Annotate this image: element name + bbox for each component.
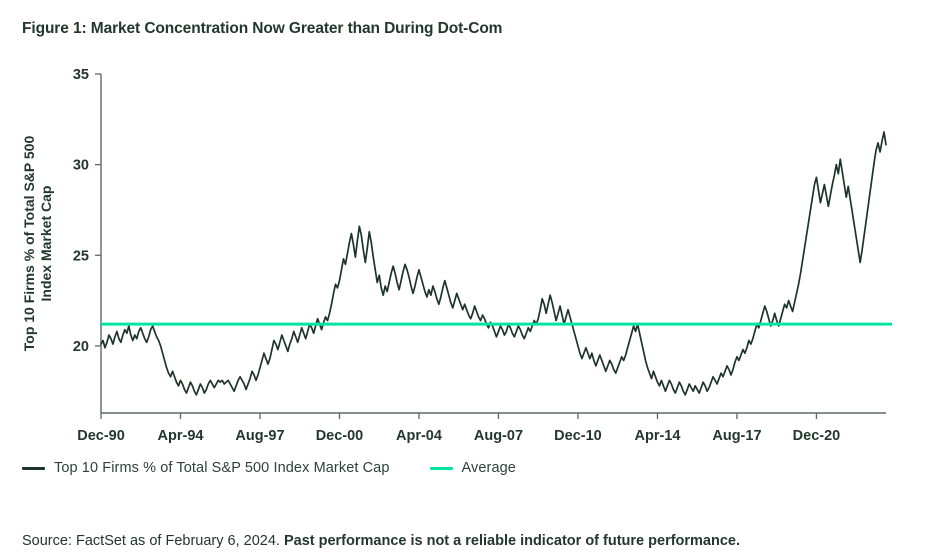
y-axis-label: Top 10 Firms % of Total S&P 500Index Mar… [21, 136, 54, 352]
x-tick-label: Apr-94 [158, 428, 204, 444]
x-tick-label: Dec-00 [316, 428, 364, 444]
line-chart-svg: Top 10 Firms % of Total S&P 500Index Mar… [0, 58, 934, 448]
chart-legend: Top 10 Firms % of Total S&P 500 Index Ma… [22, 460, 516, 476]
chart-title: Figure 1: Market Concentration Now Great… [22, 20, 502, 38]
figure-container: Figure 1: Market Concentration Now Great… [0, 0, 934, 553]
source-disclaimer: Past performance is not a reliable indic… [284, 533, 740, 549]
legend-label-average: Average [462, 460, 516, 476]
x-tick-label: Dec-20 [793, 428, 841, 444]
y-tick-label: 30 [73, 158, 89, 174]
chart-plot-area: Top 10 Firms % of Total S&P 500Index Mar… [0, 58, 934, 448]
x-tick-label: Apr-14 [634, 428, 680, 444]
y-axis-label-line: Index Market Cap [38, 186, 54, 302]
x-axis-ticks: Dec-90Apr-94Aug-97Dec-00Apr-04Aug-07Dec-… [77, 413, 840, 444]
y-tick-label: 35 [73, 67, 89, 83]
x-tick-label: Dec-90 [77, 428, 125, 444]
x-tick-label: Aug-07 [474, 428, 523, 444]
source-note: Source: FactSet as of February 6, 2024. … [22, 533, 740, 549]
legend-label-series: Top 10 Firms % of Total S&P 500 Index Ma… [54, 460, 390, 476]
y-axis-ticks: 20253035 [73, 67, 101, 355]
x-tick-label: Dec-10 [554, 428, 602, 444]
legend-item-series: Top 10 Firms % of Total S&P 500 Index Ma… [22, 460, 390, 476]
y-tick-label: 20 [73, 339, 89, 355]
x-tick-label: Aug-97 [235, 428, 284, 444]
legend-item-average: Average [430, 460, 516, 476]
source-prefix: Source: FactSet as of February 6, 2024. [22, 533, 284, 549]
y-tick-label: 25 [73, 248, 89, 264]
series-line-top10 [101, 132, 886, 395]
x-tick-label: Apr-04 [396, 428, 442, 444]
legend-swatch-average [430, 467, 453, 470]
legend-swatch-series [22, 467, 45, 470]
x-tick-label: Aug-17 [712, 428, 761, 444]
y-axis-label-line: Top 10 Firms % of Total S&P 500 [21, 136, 37, 352]
